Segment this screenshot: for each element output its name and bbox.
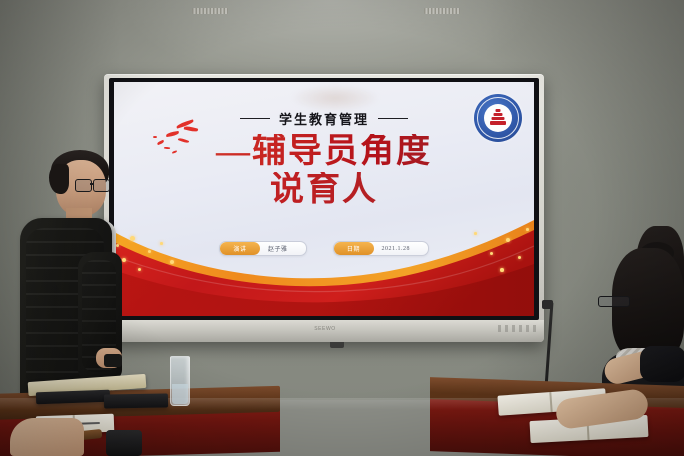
presenter-hair-side — [49, 164, 69, 194]
slide-watermark — [290, 84, 380, 112]
attendee-sleeve — [640, 346, 684, 382]
slide-title-line1: —辅导员角度 — [114, 134, 534, 170]
meeting-room-scene: 学生教育管理 —辅导员角度 说育人 演讲 赵子雅 日期 2021.1.28 — [0, 0, 684, 456]
foreground-hand — [10, 418, 84, 456]
kicker-rule-right — [378, 118, 408, 120]
ribbon-svg — [114, 212, 534, 316]
notebook-closed-left-2 — [104, 393, 168, 408]
slide-kicker: 学生教育管理 — [114, 109, 534, 128]
display-brand-label: SEEWO — [300, 324, 350, 334]
red-ribbon-decoration — [114, 212, 534, 316]
slide-content: 学生教育管理 —辅导员角度 说育人 演讲 赵子雅 日期 2021.1.28 — [114, 82, 534, 316]
kicker-text: 学生教育管理 — [279, 109, 369, 128]
presenter-glasses-icon — [75, 179, 108, 190]
coffee-cup — [106, 430, 142, 456]
slide-title: —辅导员角度 说育人 — [114, 134, 534, 208]
attendee-front-face — [598, 284, 638, 336]
speaker-grille-right — [424, 8, 460, 14]
water-glass — [170, 356, 190, 406]
attendee-front-glasses-icon — [598, 296, 630, 307]
presentation-screen[interactable]: 学生教育管理 —辅导员角度 说育人 演讲 赵子雅 日期 2021.1.28 — [114, 82, 534, 316]
slide-title-line2: 说育人 — [114, 172, 534, 208]
display-port-panel — [498, 325, 538, 332]
kicker-rule-left — [240, 118, 270, 120]
speaker-grille-left — [192, 8, 228, 14]
notebook-closed-left — [36, 390, 110, 405]
